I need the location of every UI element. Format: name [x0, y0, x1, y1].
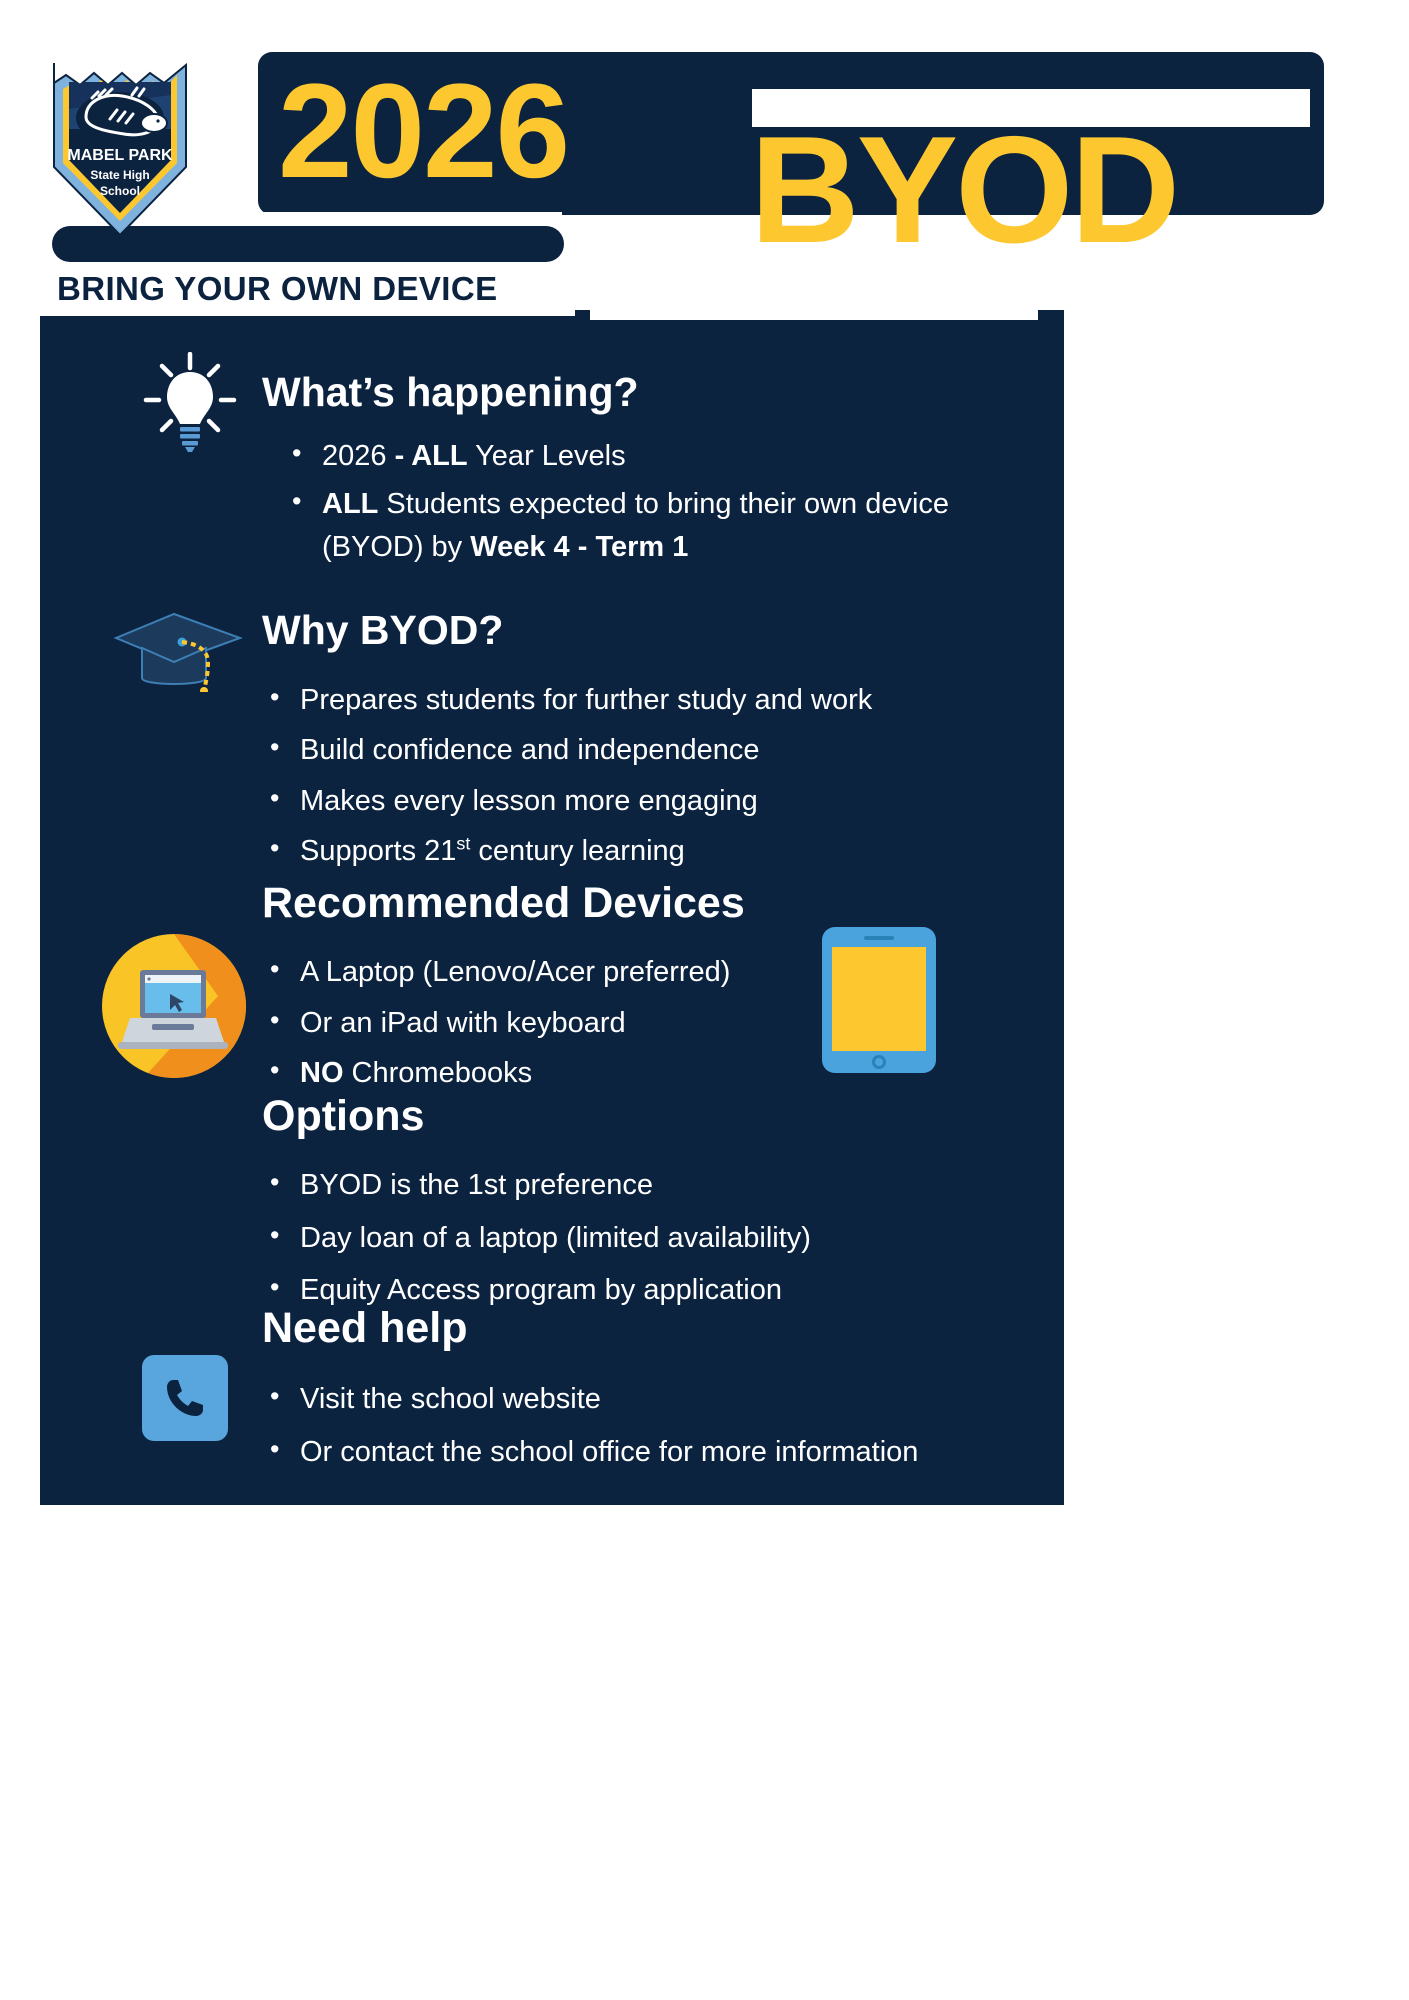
crest-name-line2: State High	[90, 168, 149, 182]
bullet-text: Build confidence and independence	[300, 734, 760, 766]
bullet-text: BYOD is the 1st preference	[300, 1169, 653, 1201]
section-title-recommended-devices: Recommended Devices	[262, 880, 1022, 927]
school-crest-logo: MABEL PARK State High School	[46, 55, 194, 240]
list-item: Or an iPad with keyboard	[262, 1002, 1022, 1044]
bullet-list-options: BYOD is the 1st preference Day loan of a…	[262, 1164, 1022, 1311]
laptop-icon	[100, 932, 248, 1080]
header-white-bar-bottom	[590, 285, 1038, 320]
bullet-text: ALL Students expected to bring their own…	[322, 488, 949, 562]
poster-year: 2026	[278, 57, 718, 207]
byod-poster: 2026 BYOD BRING YOUR OWN DEVICE	[0, 0, 1409, 2000]
bullet-text: A Laptop (Lenovo/Acer preferred)	[300, 956, 730, 988]
list-item: NO Chromebooks	[262, 1052, 1022, 1094]
section-need-help: Need help Visit the school website Or co…	[262, 1305, 1042, 1473]
list-item: ALL Students expected to bring their own…	[284, 483, 1022, 568]
section-title-whats-happening: What’s happening?	[262, 370, 1022, 415]
list-item: Supports 21st century learning	[262, 830, 1022, 872]
crest-name-line3: School	[100, 184, 140, 198]
bullet-text: Or an iPad with keyboard	[300, 1007, 626, 1039]
bullet-list-why-byod: Prepares students for further study and …	[262, 679, 1022, 872]
list-item: Build confidence and independence	[262, 729, 1022, 771]
phone-icon	[142, 1355, 228, 1441]
list-item: Visit the school website	[262, 1378, 1042, 1420]
bullet-text: Makes every lesson more engaging	[300, 785, 758, 817]
crest-name-line1: MABEL PARK	[67, 147, 173, 164]
bullet-list-whats-happening: 2026 - ALL Year Levels ALL Students expe…	[262, 435, 1022, 568]
list-item: BYOD is the 1st preference	[262, 1164, 1022, 1206]
bullet-list-recommended-devices: A Laptop (Lenovo/Acer preferred) Or an i…	[262, 951, 1022, 1094]
list-item: Day loan of a laptop (limited availabili…	[262, 1217, 1022, 1259]
bullet-text: Day loan of a laptop (limited availabili…	[300, 1222, 811, 1254]
bullet-text: Supports 21st century learning	[300, 835, 685, 867]
section-title-need-help: Need help	[262, 1305, 1042, 1352]
section-whats-happening: What’s happening? 2026 - ALL Year Levels…	[262, 370, 1022, 568]
list-item: Makes every lesson more engaging	[262, 780, 1022, 822]
list-item: 2026 - ALL Year Levels	[284, 435, 1022, 477]
crest-svg: MABEL PARK State High School	[46, 55, 194, 240]
bullet-text: Equity Access program by application	[300, 1274, 782, 1306]
list-item: Or contact the school office for more in…	[262, 1431, 1042, 1473]
list-item: A Laptop (Lenovo/Acer preferred)	[262, 951, 1022, 993]
bullet-text: Prepares students for further study and …	[300, 684, 872, 716]
poster-acronym-title: BYOD	[750, 110, 1177, 270]
section-title-why-byod: Why BYOD?	[262, 608, 1022, 653]
bullet-text: 2026 - ALL Year Levels	[322, 440, 626, 472]
list-item: Prepares students for further study and …	[262, 679, 1022, 721]
bullet-text: Or contact the school office for more in…	[300, 1436, 918, 1468]
section-options: Options BYOD is the 1st preference Day l…	[262, 1093, 1022, 1311]
bullet-text: NO Chromebooks	[300, 1057, 532, 1089]
bullet-list-need-help: Visit the school website Or contact the …	[262, 1378, 1042, 1473]
section-recommended-devices: Recommended Devices A Laptop (Lenovo/Ace…	[262, 880, 1022, 1094]
graduation-cap-icon	[112, 612, 248, 680]
bullet-text: Visit the school website	[300, 1383, 601, 1415]
poster-subtitle: BRING YOUR OWN DEVICE	[57, 270, 498, 308]
section-title-options: Options	[262, 1093, 1022, 1140]
section-why-byod: Why BYOD? Prepares students for further …	[262, 608, 1022, 872]
lightbulb-icon	[142, 352, 238, 452]
